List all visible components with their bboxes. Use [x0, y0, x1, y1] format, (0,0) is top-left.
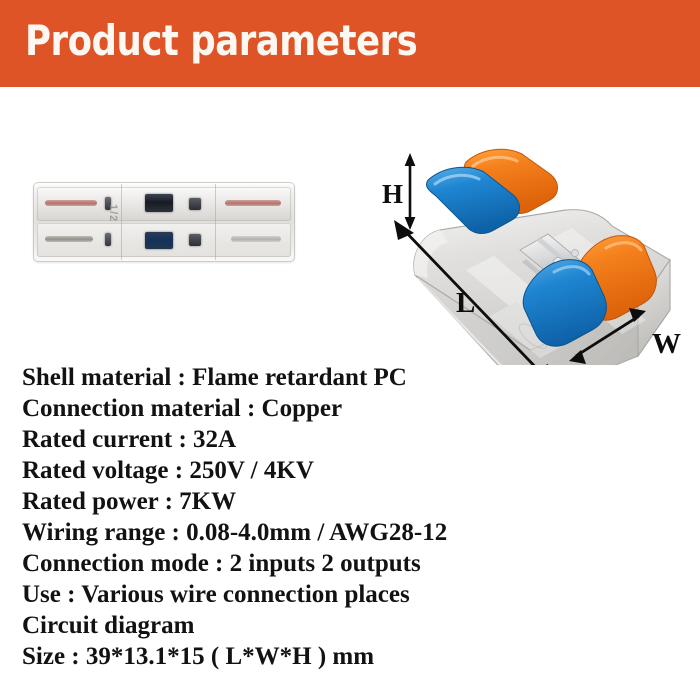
photo-clamp: [189, 198, 201, 210]
photo-wire-stub: [225, 200, 281, 206]
dimension-height-label: H: [382, 179, 403, 209]
spec-line-wiring-range: Wiring range : 0.08-4.0mm / AWG28-12: [22, 517, 622, 548]
photo-clamp: [145, 232, 173, 249]
photo-clamp: [105, 233, 111, 246]
spec-line-rated-voltage: Rated voltage : 250V / 4KV: [22, 455, 622, 486]
product-parameters-page: Product parameters 1/2: [0, 0, 700, 700]
dimension-height: H: [382, 153, 415, 230]
dimension-width-label: W: [652, 328, 681, 360]
spec-line-rated-current: Rated current : 32A: [22, 424, 622, 455]
photo-wire-stub: [45, 236, 93, 242]
dimension-diagram: H L W: [370, 110, 700, 365]
header-banner: Product parameters: [0, 0, 700, 87]
photo-seam-left: [121, 184, 122, 260]
photo-wire-stub: [45, 200, 97, 206]
product-photo-top-view: 1/2: [33, 182, 295, 262]
spec-line-use: Use : Various wire connection places: [22, 579, 622, 610]
page-title: Product parameters: [25, 15, 417, 67]
spec-line-connection-mode: Connection mode : 2 inputs 2 outputs: [22, 548, 622, 579]
specification-list: Shell material : Flame retardant PC Conn…: [22, 362, 622, 672]
spec-line-shell-material: Shell material : Flame retardant PC: [22, 362, 622, 393]
spec-line-connection-material: Connection material : Copper: [22, 393, 622, 424]
spec-line-circuit-diagram: Circuit diagram: [22, 610, 622, 641]
photo-wire-stub: [231, 236, 281, 242]
dimension-length-label: L: [456, 287, 475, 319]
spec-line-rated-power: Rated power : 7KW: [22, 486, 622, 517]
photo-marking-text: 1/2: [107, 204, 119, 222]
photo-clamp: [189, 234, 201, 246]
photo-clamp: [145, 194, 173, 212]
spec-line-size: Size : 39*13.1*15 ( L*W*H ) mm: [22, 641, 622, 672]
photo-seam-right: [215, 184, 216, 260]
